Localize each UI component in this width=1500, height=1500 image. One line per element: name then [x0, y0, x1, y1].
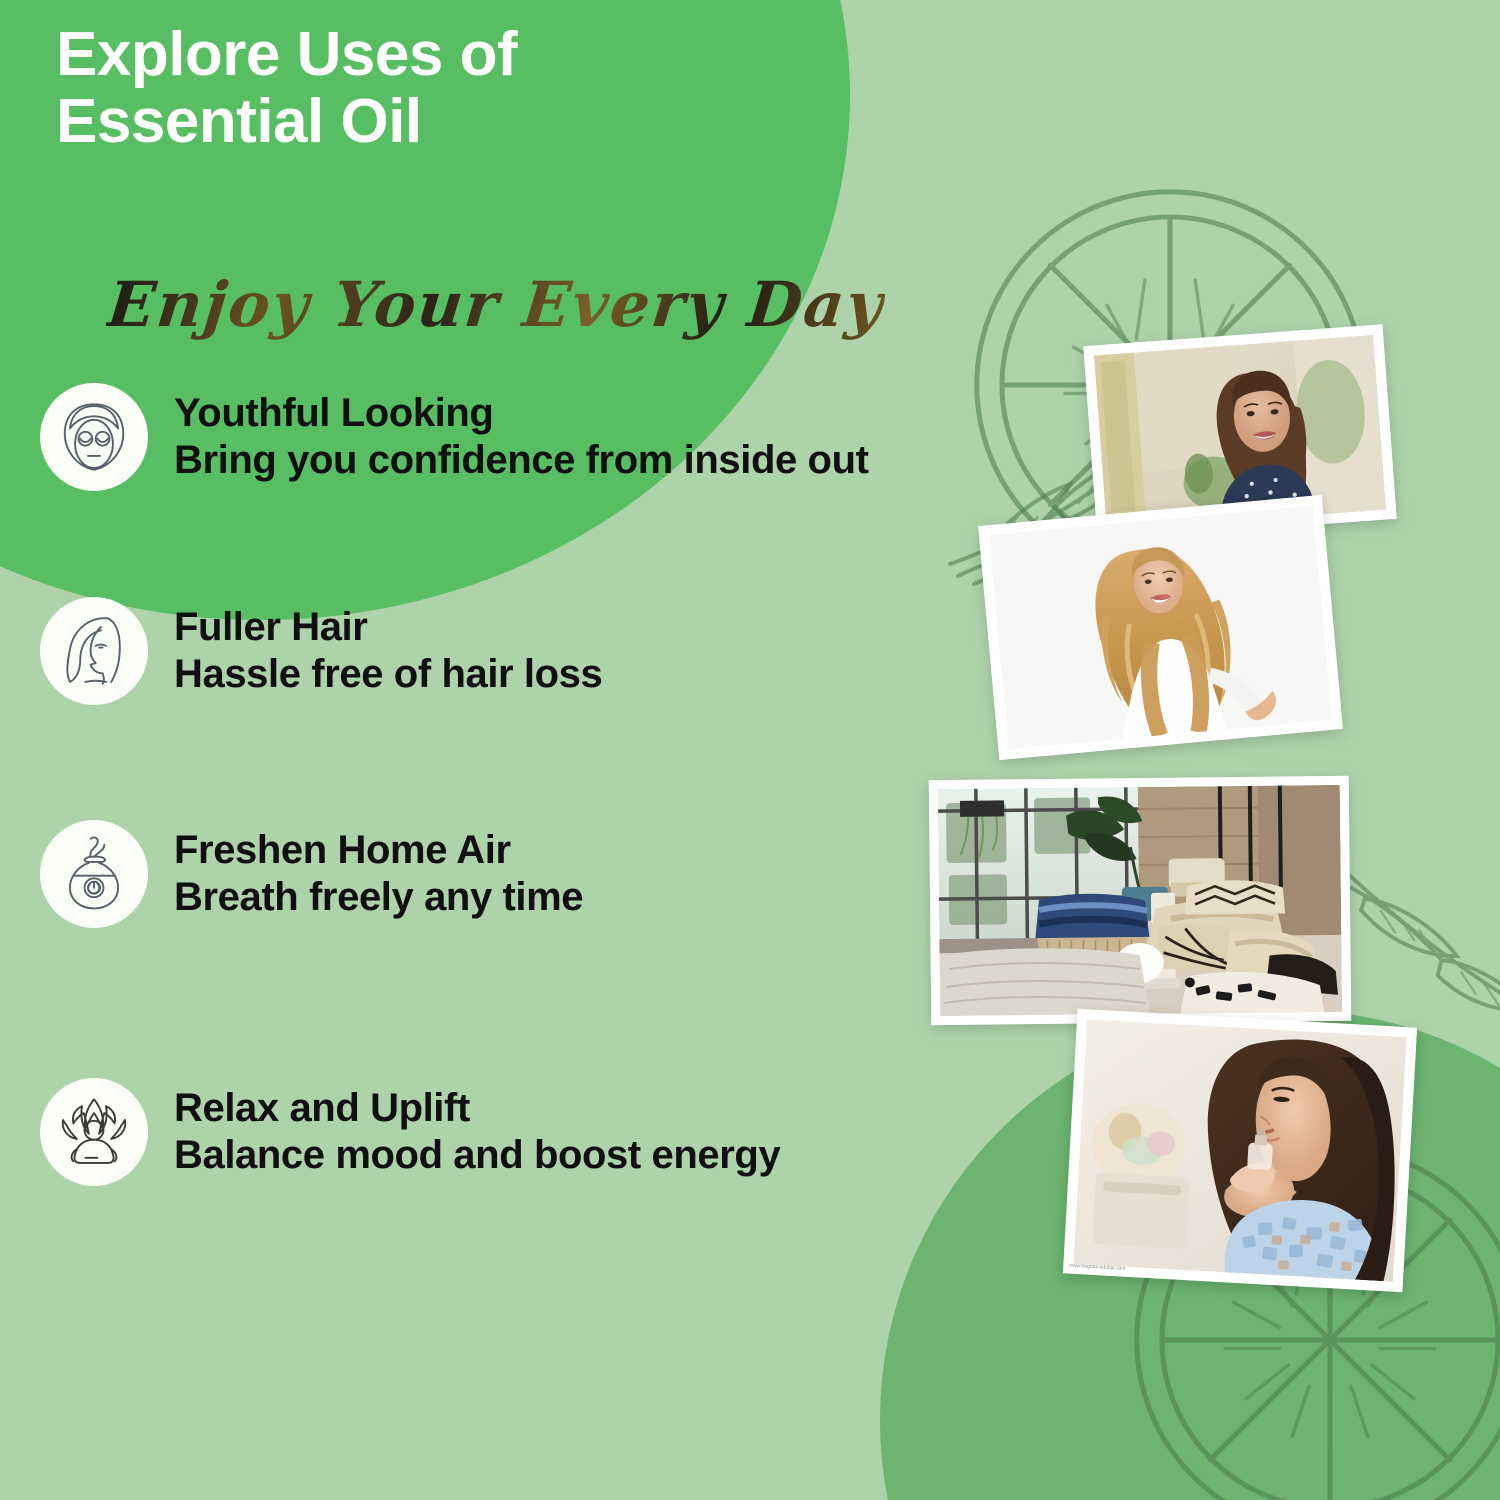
woman-applying-perfume-photo: www.fragrancedubai.com — [1063, 1009, 1417, 1293]
feature-item-fuller-hair: Fuller Hair Hassle free of hair loss — [40, 597, 602, 705]
oil-diffuser-icon — [40, 820, 148, 928]
feature-subtitle: Breath freely any time — [174, 874, 583, 921]
feature-title: Youthful Looking — [174, 390, 869, 437]
infographic-page: Explore Uses of Essential Oil Enjoy Your… — [0, 0, 1500, 1500]
photo-frame — [1094, 335, 1386, 530]
feature-text: Youthful Looking Bring you confidence fr… — [174, 390, 869, 484]
lotus-meditation-icon — [40, 1078, 148, 1186]
tagline: Enjoy Your Every Day — [104, 268, 888, 341]
feature-text: Fuller Hair Hassle free of hair loss — [174, 604, 602, 698]
photo-frame — [938, 785, 1342, 1016]
long-hair-profile-icon — [40, 597, 148, 705]
feature-title: Relax and Uplift — [174, 1085, 780, 1132]
feature-item-relax-and-uplift: Relax and Uplift Balance mood and boost … — [40, 1078, 780, 1186]
photo-frame — [989, 506, 1332, 750]
feature-text: Relax and Uplift Balance mood and boost … — [174, 1085, 780, 1179]
face-mask-icon — [40, 383, 148, 491]
feature-subtitle: Balance mood and boost energy — [174, 1132, 780, 1179]
feature-text: Freshen Home Air Breath freely any time — [174, 827, 583, 921]
feature-item-freshen-home-air: Freshen Home Air Breath freely any time — [40, 820, 583, 928]
feature-subtitle: Bring you confidence from inside out — [174, 437, 869, 484]
feature-title: Fuller Hair — [174, 604, 602, 651]
blonde-wavy-hair-photo — [978, 495, 1343, 760]
photo-frame — [1073, 1019, 1406, 1281]
cozy-living-room-photo — [929, 776, 1352, 1025]
feature-title: Freshen Home Air — [174, 827, 583, 874]
feature-subtitle: Hassle free of hair loss — [174, 651, 602, 698]
page-title: Explore Uses of Essential Oil — [56, 22, 517, 156]
feature-item-youthful-looking: Youthful Looking Bring you confidence fr… — [40, 383, 869, 491]
